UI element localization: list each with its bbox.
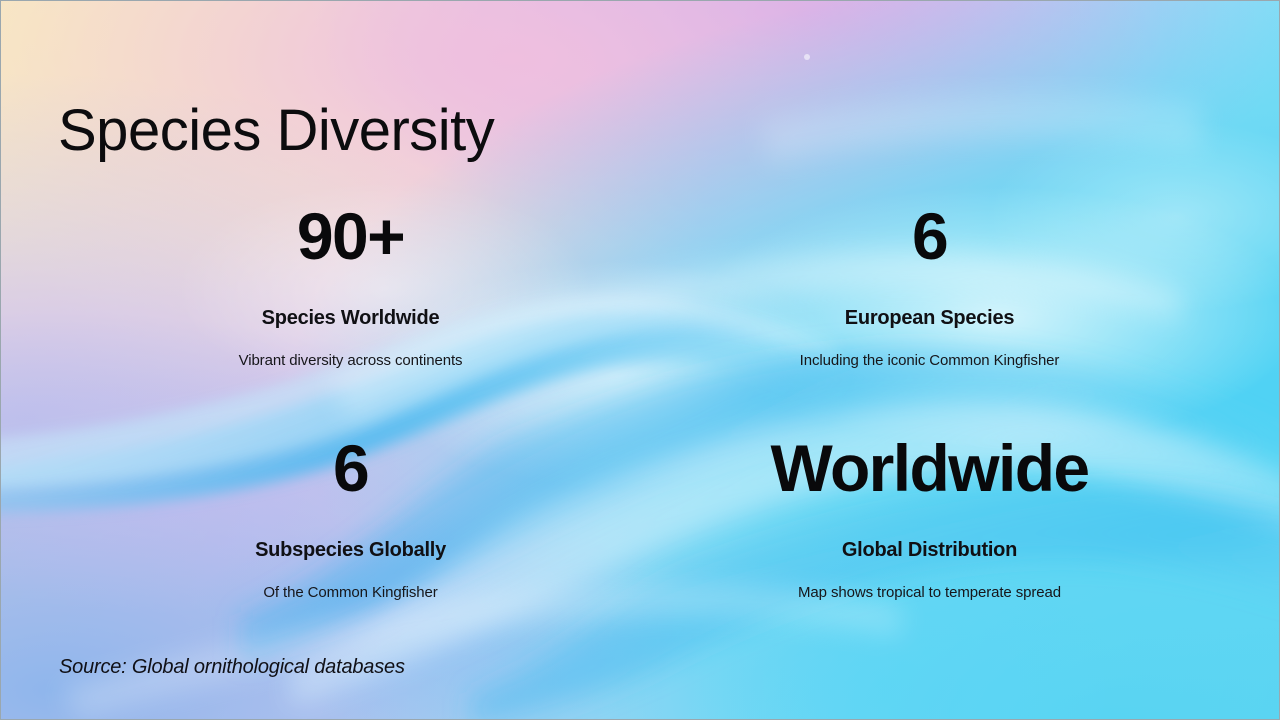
stat-description: Vibrant diversity across continents xyxy=(239,352,463,371)
stat-value: 6 xyxy=(912,203,947,269)
source-note: Source: Global ornithological databases xyxy=(59,656,405,679)
stat-label: Subspecies Globally xyxy=(255,538,446,562)
stat-description: Of the Common Kingfisher xyxy=(263,584,437,603)
stat-label: European Species xyxy=(845,306,1014,330)
stat-value: 90+ xyxy=(297,203,404,269)
stat-value: Worldwide xyxy=(770,435,1088,501)
stat-label: Global Distribution xyxy=(842,538,1017,562)
presentation-slide: Species Diversity 90+ Species Worldwide … xyxy=(0,0,1280,720)
stat-description: Map shows tropical to temperate spread xyxy=(798,584,1061,603)
stat-description: Including the iconic Common Kingfisher xyxy=(800,352,1060,371)
stat-value: 6 xyxy=(333,435,368,501)
stat-card-species-worldwide: 90+ Species Worldwide Vibrant diversity … xyxy=(61,197,640,429)
slide-content: Species Diversity 90+ Species Worldwide … xyxy=(1,1,1279,719)
stat-label: Species Worldwide xyxy=(262,306,440,330)
page-title: Species Diversity xyxy=(58,96,494,166)
stat-card-european-species: 6 European Species Including the iconic … xyxy=(640,197,1219,429)
stat-card-subspecies-globally: 6 Subspecies Globally Of the Common King… xyxy=(61,429,640,661)
stat-grid: 90+ Species Worldwide Vibrant diversity … xyxy=(61,197,1219,661)
stat-card-global-distribution: Worldwide Global Distribution Map shows … xyxy=(640,429,1219,661)
